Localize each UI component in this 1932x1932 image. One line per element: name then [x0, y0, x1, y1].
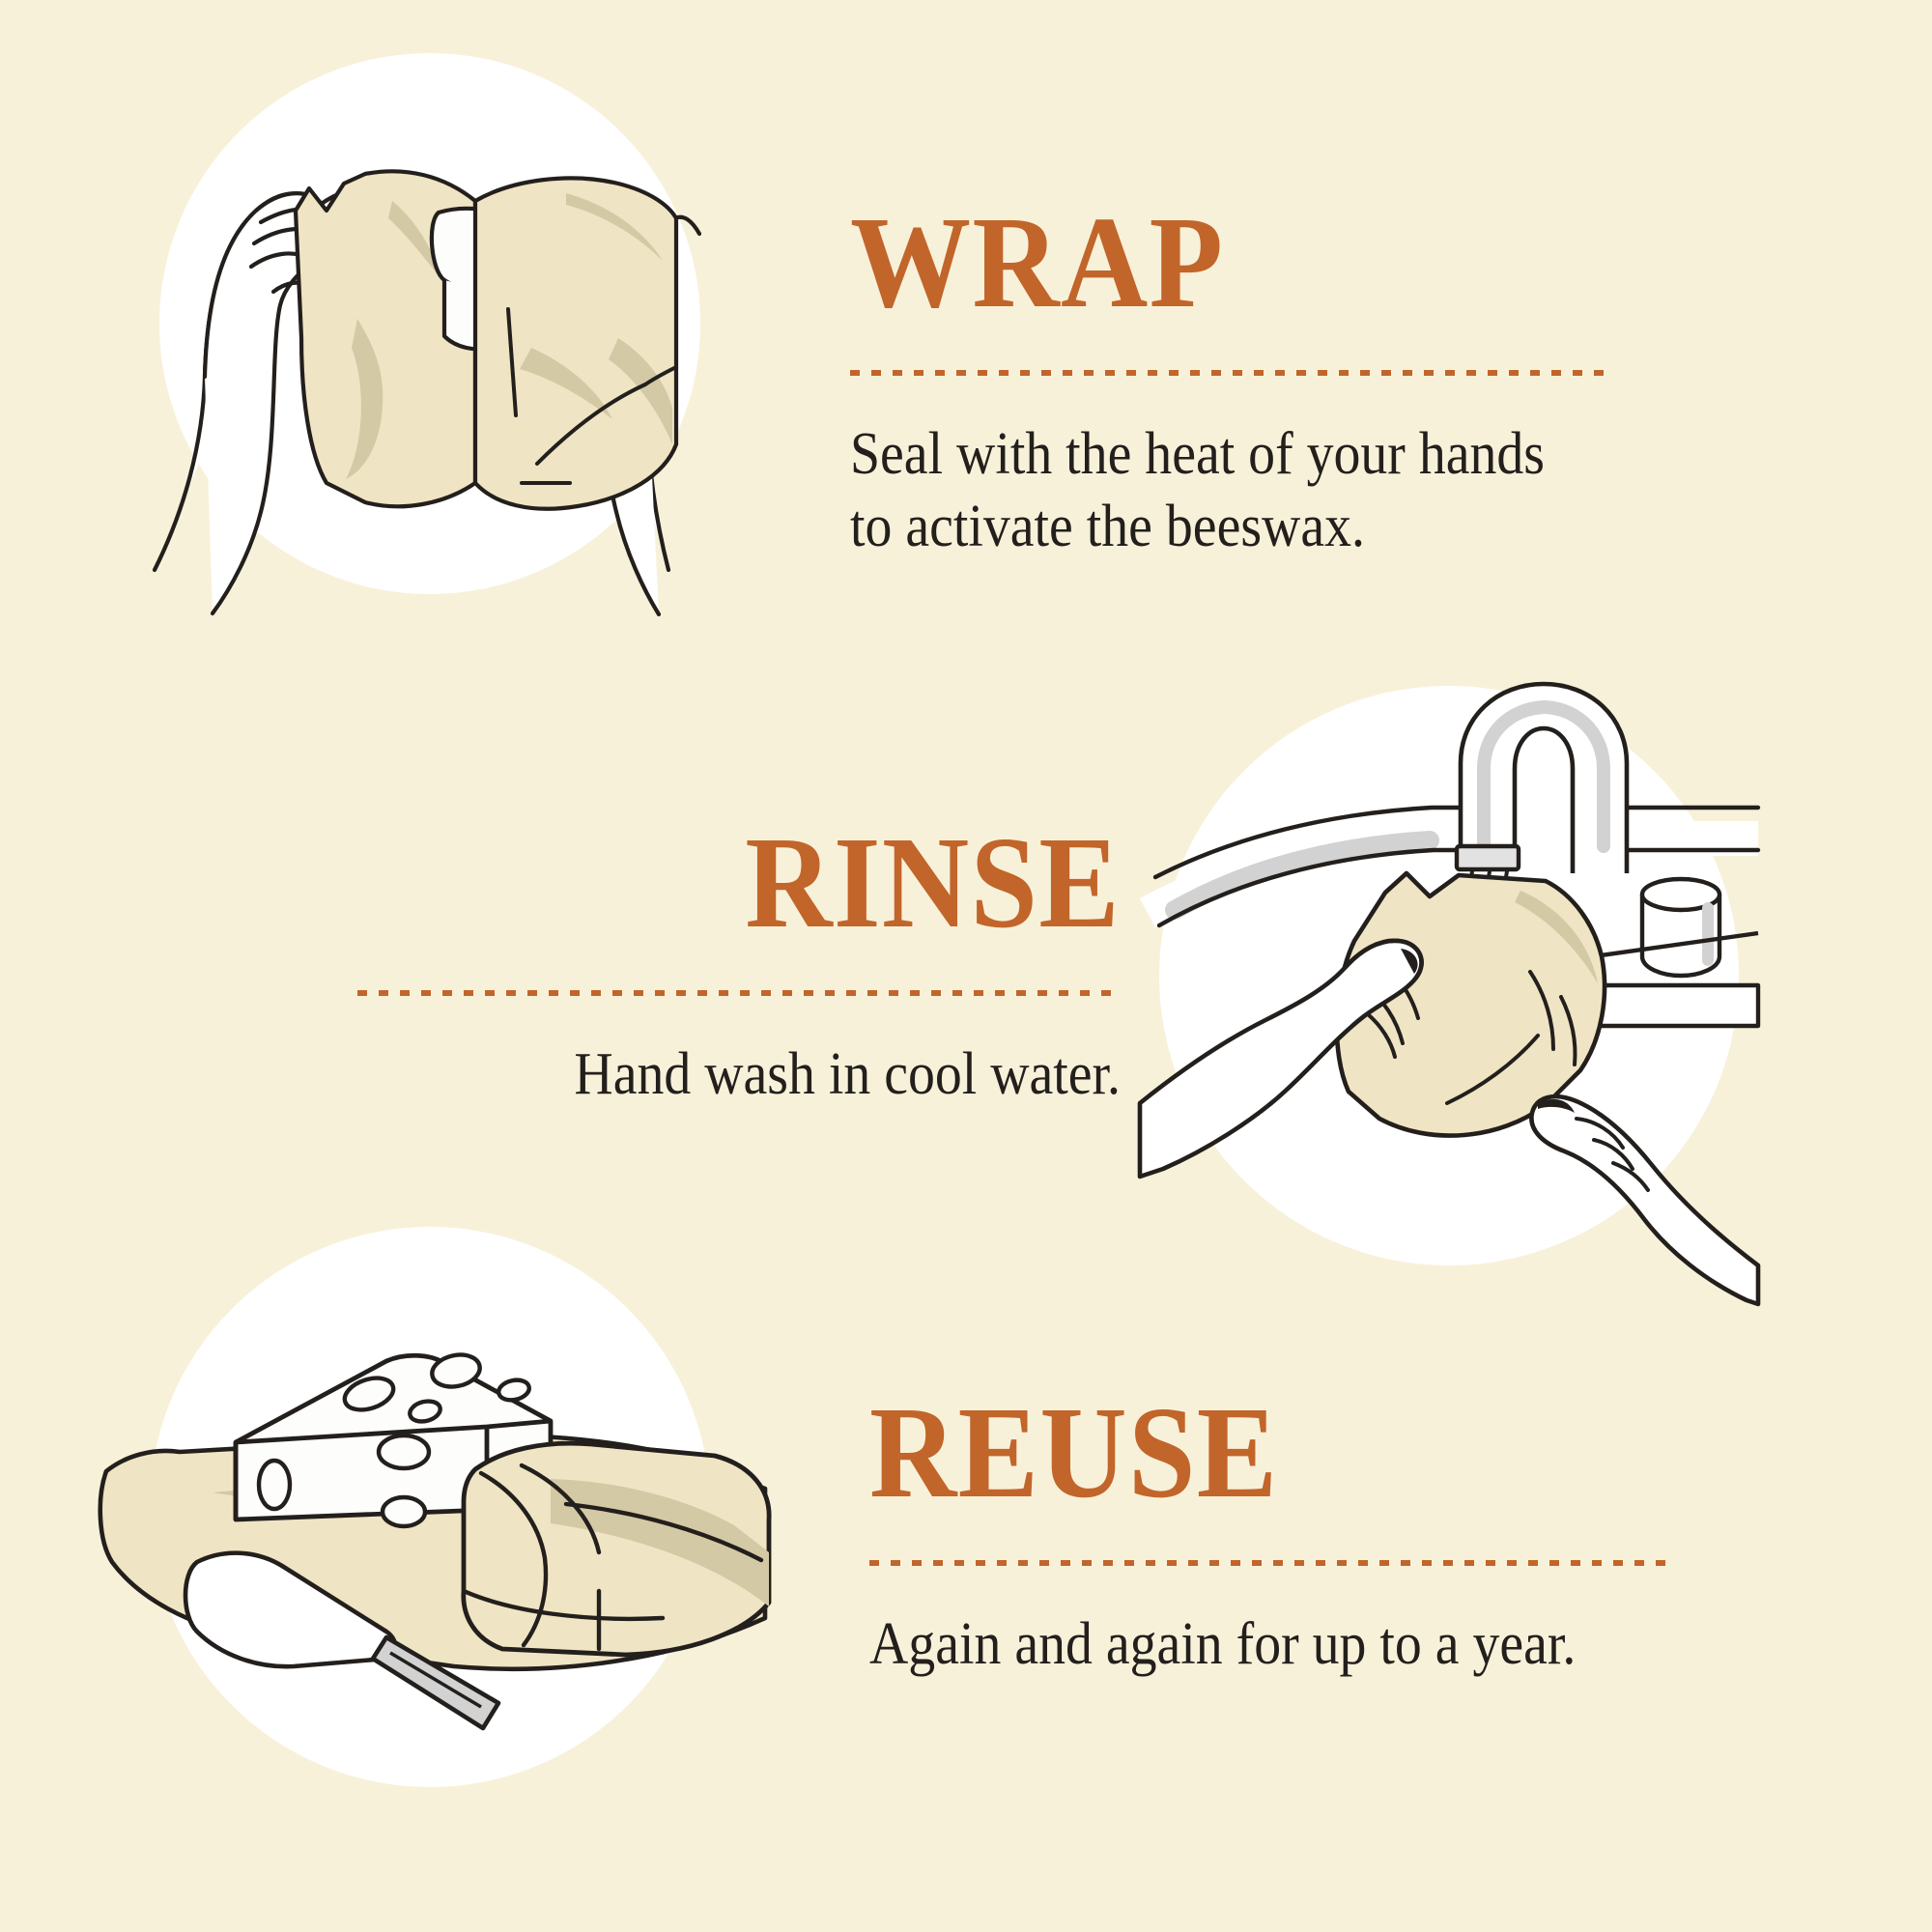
rinse-text-block: RINSE Hand wash in cool water.	[290, 821, 1121, 1111]
rinse-caption: Hand wash in cool water.	[373, 1038, 1121, 1110]
rinse-divider	[357, 990, 1121, 996]
hands-wrapping-cheese-illustration	[116, 29, 715, 628]
cheese-knife-on-wrap-illustration	[97, 1212, 773, 1889]
hands-rinsing-wrap-under-faucet-illustration	[1140, 667, 1758, 1285]
wrap-text-block: WRAP Seal with the heat of your hands to…	[850, 201, 1642, 562]
wrap-divider	[850, 370, 1613, 376]
reuse-divider	[869, 1560, 1671, 1566]
reuse-heading: REUSE	[869, 1391, 1607, 1516]
wrap-caption: Seal with the heat of your hands to acti…	[850, 418, 1563, 562]
reuse-caption: Again and again for up to a year.	[869, 1608, 1591, 1680]
reuse-text-block: REUSE Again and again for up to a year.	[869, 1391, 1671, 1681]
wrap-illustration	[116, 29, 715, 628]
rinse-illustration	[1140, 667, 1758, 1285]
beeswax-wrap-care-infographic: WRAP Seal with the heat of your hands to…	[0, 0, 1932, 1932]
reuse-illustration	[97, 1212, 773, 1889]
rinse-heading: RINSE	[356, 821, 1121, 946]
wrap-heading: WRAP	[850, 201, 1578, 326]
